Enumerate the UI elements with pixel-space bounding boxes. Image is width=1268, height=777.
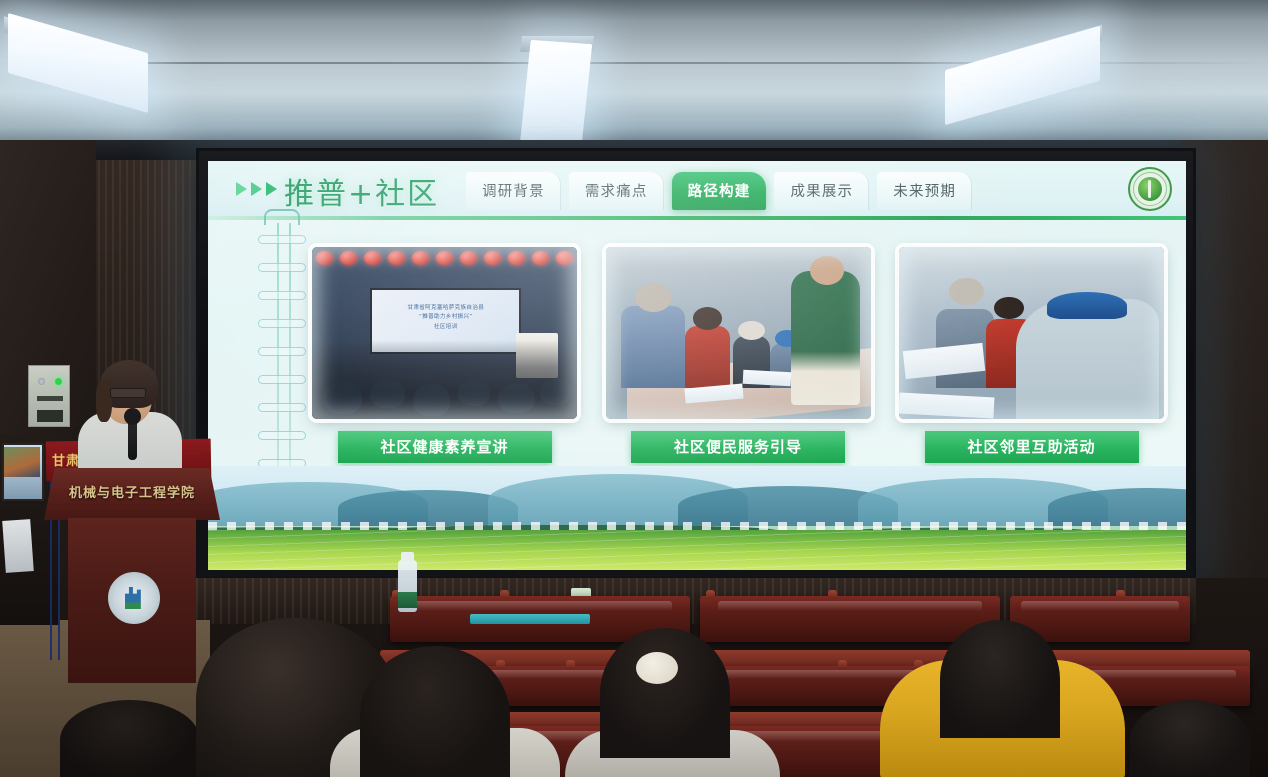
green-fields [208, 530, 1186, 570]
photo-volunteer-head [810, 256, 844, 285]
bottle-label [398, 592, 417, 608]
bench-knob [706, 590, 715, 599]
presentation-slide: 推普+社区 调研背景 需求痛点 路径构建 成果展示 未来预期 [208, 161, 1186, 570]
photo-woman-head [693, 307, 722, 329]
photo-audience-head [540, 379, 572, 404]
microphone-head [124, 408, 141, 425]
lantern-icon [316, 251, 333, 265]
photo-audience-head [323, 381, 363, 414]
emblem-wheat-icon [1138, 177, 1162, 201]
bench-knob [566, 660, 575, 669]
binding-ring [258, 347, 306, 356]
slide-footer-landscape [208, 466, 1186, 570]
photo-inner-line-1: 甘肃省阿克塞哈萨克族自治县 [381, 304, 510, 314]
photo-elder-head [949, 278, 983, 306]
presenter-hair-side [96, 380, 112, 422]
photo-woman-red-shirt [685, 326, 730, 388]
bench-row-back [700, 596, 1000, 642]
photo-community-service-guidance [606, 247, 871, 419]
hair-scrunchie [636, 652, 678, 684]
audience-head-yellow-coat [940, 620, 1060, 738]
photo-elder-head [635, 283, 672, 312]
photo-volunteer-green-polo [791, 271, 860, 405]
card-chip-label: 社区健康素养宣讲 [338, 431, 552, 463]
bench-gloss [718, 601, 982, 611]
arrow-right-icon [266, 182, 277, 196]
lantern-icon [508, 251, 525, 265]
bench-gloss [1021, 601, 1179, 611]
desk-reflection [470, 614, 590, 624]
bench-knob [500, 590, 509, 599]
audience-head-left [60, 700, 200, 777]
slide-header-rule [208, 216, 1186, 220]
lantern-icon [340, 251, 357, 265]
lantern-icon [364, 251, 381, 265]
audience-head-right [1130, 700, 1250, 777]
photo-audience-head [370, 379, 404, 407]
binding-ring [258, 375, 306, 384]
card-chip-label: 社区便民服务引导 [631, 431, 845, 463]
university-emblem-icon [1128, 167, 1172, 211]
podium-emblem-icon [108, 572, 160, 624]
photo-audience-head [413, 384, 450, 416]
lantern-icon [460, 251, 477, 265]
ceiling-light-2 [520, 40, 593, 149]
arrow-right-icon [236, 182, 247, 196]
photo-audience-head [458, 379, 490, 406]
tab-demand-painpoints[interactable]: 需求痛点 [569, 172, 664, 210]
bottle-cap [401, 552, 414, 562]
binding-ring [258, 319, 306, 328]
audience-head-2 [360, 646, 510, 777]
photo-elder-striped-shirt [621, 306, 685, 389]
photo-brochure [743, 370, 791, 386]
lantern-row [312, 251, 577, 277]
binding-ring [258, 431, 306, 440]
tab-research-background[interactable]: 调研背景 [466, 172, 561, 210]
presenter-and-podium: 机械与电子工程学院 [30, 350, 210, 680]
lantern-icon [484, 251, 501, 265]
tab-future-outlook[interactable]: 未来预期 [877, 172, 972, 210]
photo-elder-cap [738, 321, 765, 340]
photo-inner-line-3: 社区培训 [381, 323, 510, 333]
binding-ring [258, 235, 306, 244]
glasses-icon [110, 388, 146, 398]
tab-achievements[interactable]: 成果展示 [774, 172, 869, 210]
photo-audience-head [498, 383, 535, 413]
podium-banner-text: 机械与电子工程学院 [44, 482, 220, 501]
bench-knob [838, 660, 847, 669]
photo-blue-cap-icon [1047, 292, 1127, 320]
arrow-right-icon [251, 182, 262, 196]
binding-ring [258, 263, 306, 272]
lantern-icon [388, 251, 405, 265]
lantern-icon [532, 251, 549, 265]
lantern-icon [436, 251, 453, 265]
arrow-markers [236, 182, 277, 196]
bench-knob [1116, 590, 1125, 599]
audience-head-3 [600, 628, 730, 758]
slide-tab-bar: 调研背景 需求痛点 路径构建 成果展示 未来预期 [466, 172, 980, 210]
photo-community-health-lecture: 甘肃省阿克塞哈萨克族自治县 “推普助力乡村振兴” 社区培训 [312, 247, 577, 419]
bench-knob [496, 660, 505, 669]
slide-title: 推普+社区 [284, 169, 439, 213]
photo-woman-head [994, 297, 1023, 319]
lecture-hall-photo: 推普+社区 调研背景 需求痛点 路径构建 成果展示 未来预期 [0, 0, 1268, 777]
photo-inner-slide-text: 甘肃省阿克塞哈萨克族自治县 “推普助力乡村振兴” 社区培训 [381, 304, 510, 333]
lantern-icon [412, 251, 429, 265]
tab-path-construction[interactable]: 路径构建 [672, 172, 767, 210]
binding-top [264, 209, 300, 225]
binding-ring [258, 291, 306, 300]
photo-inner-line-2: “推普助力乡村振兴” [381, 313, 510, 323]
projection-screen: 推普+社区 调研背景 需求痛点 路径构建 成果展示 未来预期 [196, 148, 1196, 580]
photo-inner-seating [312, 340, 577, 419]
lantern-icon [556, 251, 573, 265]
photo-neighborhood-mutual-aid [899, 247, 1164, 419]
bench-knob [828, 590, 837, 599]
binding-ring [258, 403, 306, 412]
bench-gloss [408, 601, 672, 611]
card-chip-label: 社区邻里互助活动 [925, 431, 1139, 463]
